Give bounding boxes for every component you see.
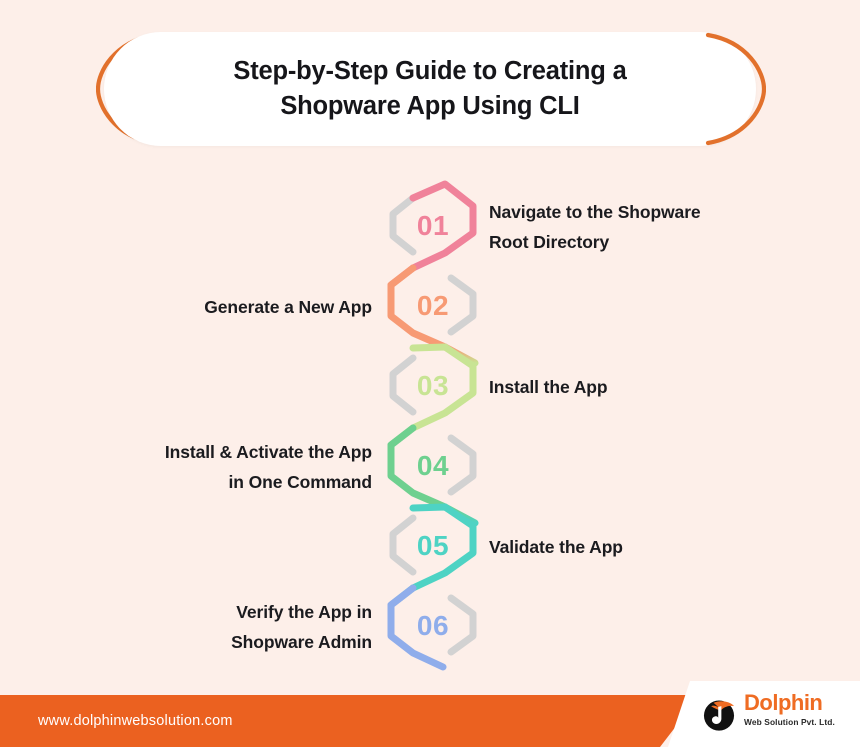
hexagon-chain-graphic — [383, 175, 483, 675]
step-number-02: 02 — [385, 290, 481, 322]
step-label-02: Generate a New App — [70, 292, 372, 322]
step-number-03: 03 — [385, 370, 481, 402]
dolphin-logo-icon — [700, 695, 738, 733]
step-label-06: Verify the App in Shopware Admin — [70, 597, 372, 657]
logo-text-block: Dolphin Web Solution Pvt. Ltd. — [744, 691, 852, 727]
step-label-05: Validate the App — [489, 532, 789, 562]
step-label-06-line1: Verify the App in — [236, 602, 372, 622]
infographic-page: Step-by-Step Guide to Creating a Shopwar… — [0, 0, 860, 747]
step-label-06-line2: Shopware Admin — [231, 632, 372, 652]
steps-list: 01 02 03 04 05 06 Navigate to the Shopwa… — [0, 175, 860, 675]
step-label-01-line2: Root Directory — [489, 232, 609, 252]
step-number-06: 06 — [385, 610, 481, 642]
footer-website-url[interactable]: www.dolphinwebsolution.com — [38, 695, 233, 747]
logo-company-name: Dolphin — [744, 691, 852, 716]
step-number-04: 04 — [385, 450, 481, 482]
logo-tagline: Web Solution Pvt. Ltd. — [744, 717, 852, 727]
step-label-03: Install the App — [489, 372, 789, 402]
step-label-03-line1: Install the App — [489, 377, 607, 397]
title-banner: Step-by-Step Guide to Creating a Shopwar… — [96, 32, 764, 146]
step-label-02-line1: Generate a New App — [204, 297, 372, 317]
page-title: Step-by-Step Guide to Creating a Shopwar… — [207, 54, 652, 123]
title-card: Step-by-Step Guide to Creating a Shopwar… — [104, 32, 756, 146]
title-line-1: Step-by-Step Guide to Creating a — [233, 57, 626, 85]
step-label-04: Install & Activate the App in One Comman… — [70, 437, 372, 497]
brand-logo[interactable]: Dolphin Web Solution Pvt. Ltd. — [700, 691, 850, 739]
step-label-05-line1: Validate the App — [489, 537, 623, 557]
step-number-01: 01 — [385, 210, 481, 242]
step-label-01-line1: Navigate to the Shopware — [489, 202, 701, 222]
step-label-01: Navigate to the Shopware Root Directory — [489, 197, 789, 257]
title-line-2: Shopware App Using CLI — [280, 92, 579, 120]
footer: www.dolphinwebsolution.com Dolphin Web S… — [0, 695, 860, 747]
step-label-04-line1: Install & Activate the App — [165, 442, 372, 462]
step-number-05: 05 — [385, 530, 481, 562]
step-label-04-line2: in One Command — [229, 472, 372, 492]
